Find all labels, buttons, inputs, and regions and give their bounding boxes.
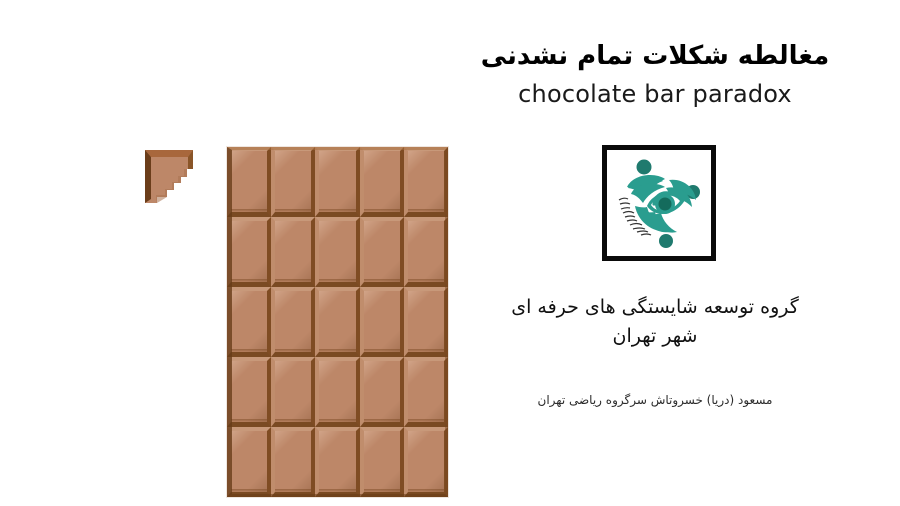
chocolate-square	[404, 147, 448, 217]
logo-eye-icon	[607, 150, 711, 256]
chocolate-square	[271, 287, 315, 357]
chocolate-square	[227, 357, 271, 427]
chocolate-square	[315, 287, 359, 357]
chocolate-square	[360, 287, 404, 357]
chocolate-square	[227, 287, 271, 357]
broken-chocolate-piece	[143, 147, 199, 207]
page-title-en: chocolate bar paradox	[455, 80, 855, 109]
chocolate-square	[360, 357, 404, 427]
organization-line-1: گروه توسعه شایستگی های حرفه ای	[511, 296, 799, 318]
page-title-fa: مغالطه شکلات تمام نشدنی	[455, 40, 855, 73]
chocolate-square	[227, 427, 271, 497]
chocolate-square	[271, 357, 315, 427]
broken-piece-icon	[143, 147, 199, 207]
chocolate-square	[360, 217, 404, 287]
chocolate-square	[360, 147, 404, 217]
chocolate-square	[404, 357, 448, 427]
organization-line-2: شهر تهران	[455, 322, 855, 351]
author-credit: مسعود (دریا) خسروتاش سرگروه ریاضی تهران	[455, 392, 855, 409]
chocolate-square	[271, 217, 315, 287]
chocolate-square	[315, 147, 359, 217]
chocolate-square	[404, 217, 448, 287]
chocolate-square	[271, 427, 315, 497]
organization-name: گروه توسعه شایستگی های حرفه ای شهر تهران	[455, 293, 855, 352]
chocolate-square	[227, 217, 271, 287]
chocolate-bar	[227, 147, 448, 497]
chocolate-square	[404, 287, 448, 357]
chocolate-square	[315, 357, 359, 427]
chocolate-square	[271, 147, 315, 217]
chocolate-square	[315, 427, 359, 497]
slide-canvas: مغالطه شکلات تمام نشدنی chocolate bar pa…	[0, 0, 900, 506]
chocolate-square	[404, 427, 448, 497]
title-block: مغالطه شکلات تمام نشدنی chocolate bar pa…	[455, 40, 855, 108]
chocolate-square	[315, 217, 359, 287]
organization-logo	[602, 145, 716, 261]
chocolate-square	[360, 427, 404, 497]
chocolate-square	[227, 147, 271, 217]
